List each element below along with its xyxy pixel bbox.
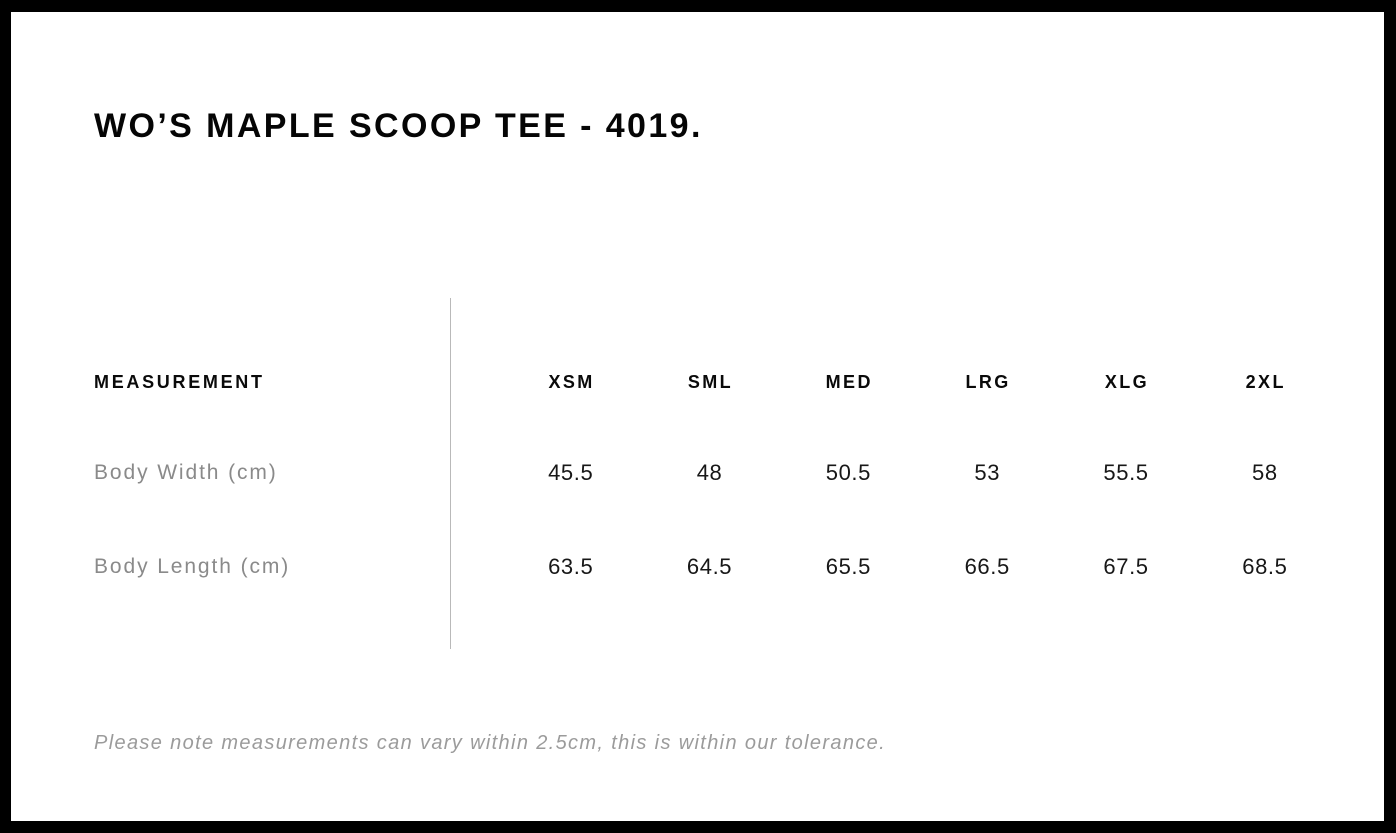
column-header-sml: SML xyxy=(640,367,779,397)
cell-body-width-sml: 48 xyxy=(640,458,779,488)
table-row: Body Width (cm) 45.5 48 50.5 53 55.5 58 xyxy=(11,458,1384,488)
cell-body-length-sml: 64.5 xyxy=(640,552,779,582)
cell-body-length-xsm: 63.5 xyxy=(501,552,640,582)
size-header-cells: XSM SML MED LRG XLG 2XL xyxy=(501,367,1334,397)
cell-body-width-lrg: 53 xyxy=(917,458,1056,488)
table-header-row: MEASUREMENT XSM SML MED LRG XLG 2XL xyxy=(11,367,1384,397)
cell-body-width-2xl: 58 xyxy=(1195,458,1334,488)
column-header-med: MED xyxy=(779,367,918,397)
cell-body-width-xlg: 55.5 xyxy=(1056,458,1195,488)
cell-body-width-xsm: 45.5 xyxy=(501,458,640,488)
cell-body-length-2xl: 68.5 xyxy=(1195,552,1334,582)
cell-body-length-med: 65.5 xyxy=(779,552,918,582)
column-header-lrg: LRG xyxy=(917,367,1056,397)
cell-body-length-xlg: 67.5 xyxy=(1056,552,1195,582)
column-header-measurement: MEASUREMENT xyxy=(94,367,265,397)
column-header-xsm: XSM xyxy=(501,367,640,397)
row-label-body-width: Body Width (cm) xyxy=(94,458,278,488)
size-chart-page: WO’S MAPLE SCOOP TEE - 4019. MEASUREMENT… xyxy=(0,0,1396,833)
column-header-xlg: XLG xyxy=(1056,367,1195,397)
cell-body-width-med: 50.5 xyxy=(779,458,918,488)
page-title: WO’S MAPLE SCOOP TEE - 4019. xyxy=(94,108,703,145)
row-label-body-length: Body Length (cm) xyxy=(94,552,290,582)
column-header-2xl: 2XL xyxy=(1195,367,1334,397)
table-row: Body Length (cm) 63.5 64.5 65.5 66.5 67.… xyxy=(11,552,1384,582)
row-values-body-length: 63.5 64.5 65.5 66.5 67.5 68.5 xyxy=(501,552,1334,582)
size-chart-sheet: WO’S MAPLE SCOOP TEE - 4019. MEASUREMENT… xyxy=(11,12,1384,821)
row-values-body-width: 45.5 48 50.5 53 55.5 58 xyxy=(501,458,1334,488)
tolerance-note: Please note measurements can vary within… xyxy=(94,728,886,758)
cell-body-length-lrg: 66.5 xyxy=(917,552,1056,582)
